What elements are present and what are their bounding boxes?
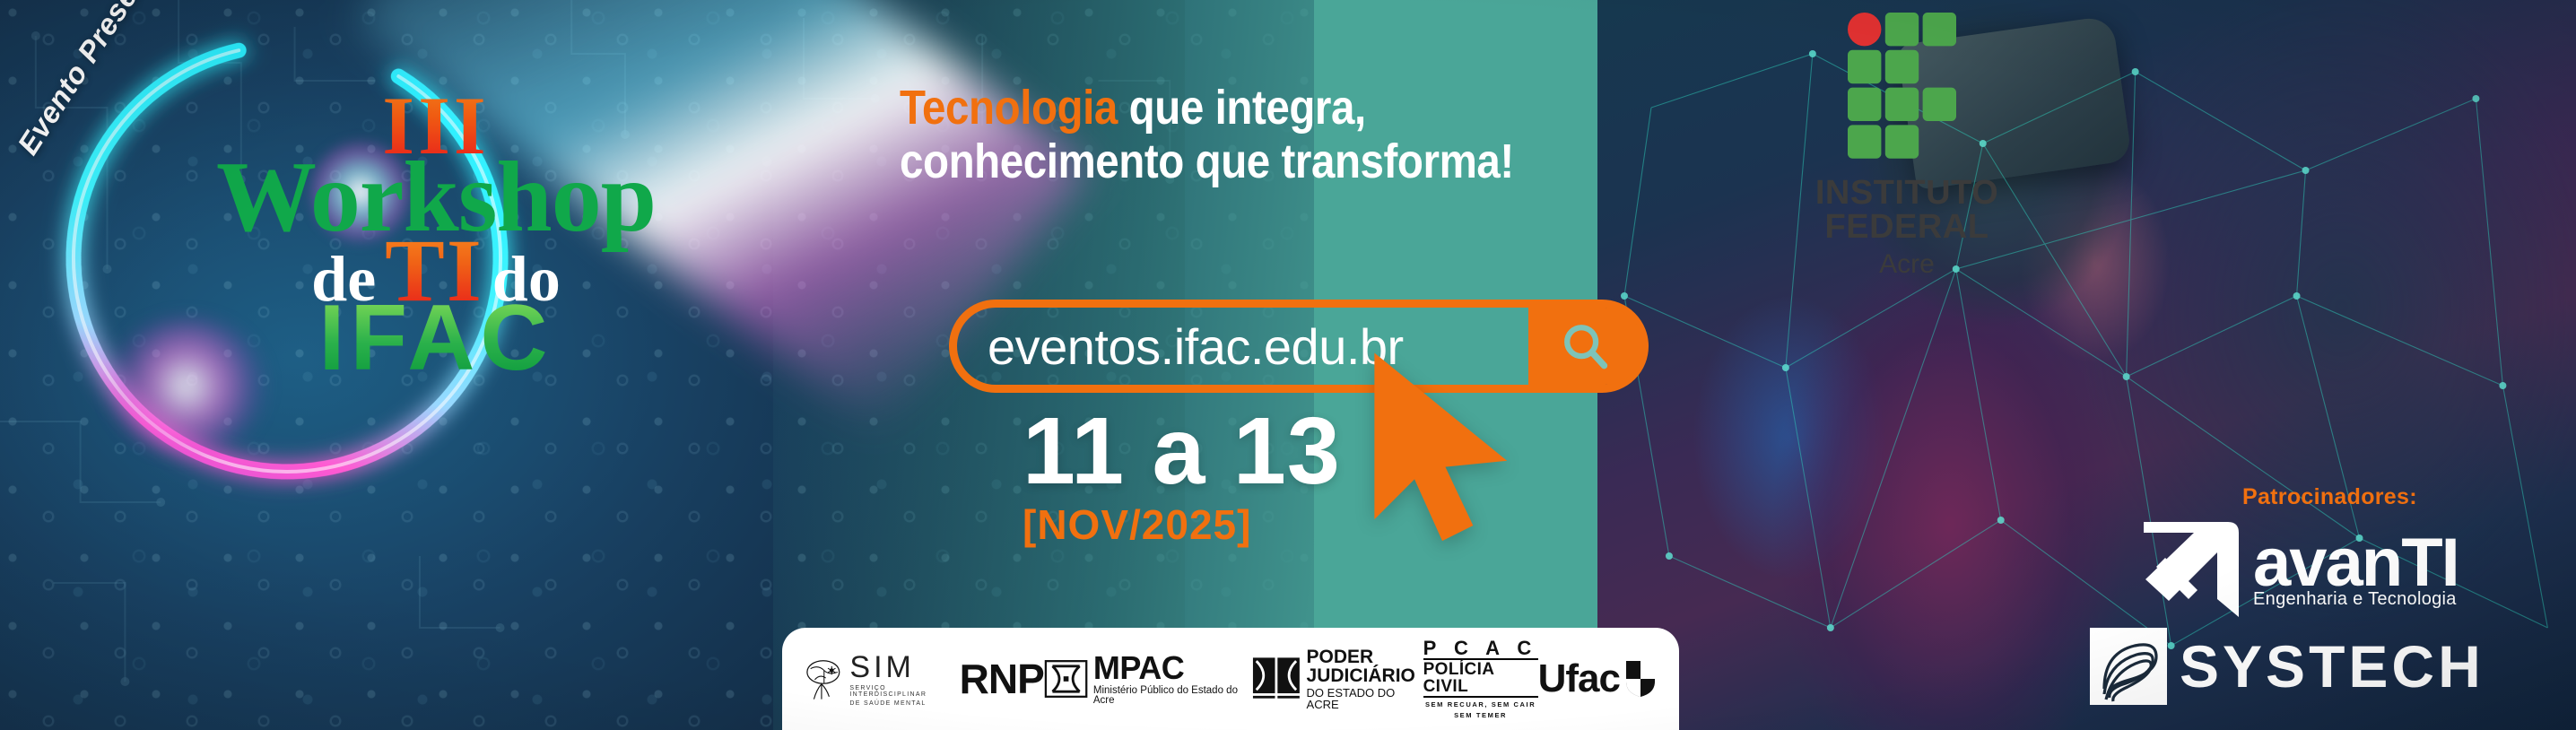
sim-brain-icon xyxy=(805,656,844,702)
partner-sim-sub-1: SERVIÇO INTERDISCIPLINAR xyxy=(849,685,959,698)
logo-institution: IFAC xyxy=(203,296,669,382)
partner-ufac-name: Ufac xyxy=(1538,656,1620,701)
mouse-cursor-icon xyxy=(1363,350,1521,547)
tagline-highlight: Tecnologia xyxy=(900,81,1118,135)
partner-sim[interactable]: SIM SERVIÇO INTERDISCIPLINAR DE SAÚDE ME… xyxy=(805,652,960,707)
if-name-line-1: INSTITUTO xyxy=(1808,176,2006,210)
partner-pcac[interactable]: P C A C POLÍCIA CIVIL SEM RECUAR, SEM CA… xyxy=(1423,639,1538,720)
partner-sim-text: SIM SERVIÇO INTERDISCIPLINAR DE SAÚDE ME… xyxy=(849,652,959,707)
partner-mpac[interactable]: MPAC Ministério Público do Estado do Acr… xyxy=(1044,652,1252,707)
partner-mpac-text: MPAC Ministério Público do Estado do Acr… xyxy=(1093,652,1252,707)
partner-pj-text: PODER JUDICIÁRIO DO ESTADO DO ACRE xyxy=(1307,647,1423,711)
partner-sim-name: SIM xyxy=(849,652,959,682)
avanti-tagline: Engenharia e Tecnologia xyxy=(2253,589,2459,610)
tagline-line-1: Tecnologia que integra, xyxy=(900,81,1689,135)
sponsor-avanti[interactable]: avanTI Engenharia e Tecnologia xyxy=(2138,517,2459,624)
judiciary-scales-icon xyxy=(1252,656,1301,702)
systech-wave-icon xyxy=(2090,628,2167,705)
if-grid-icon xyxy=(1848,13,1966,162)
partner-ufac[interactable]: Ufac xyxy=(1538,656,1656,701)
partner-poder-judiciario[interactable]: PODER JUDICIÁRIO DO ESTADO DO ACRE xyxy=(1252,647,1423,711)
partner-pcac-motto-2: SEM TEMER xyxy=(1423,711,1538,719)
sponsors-label: Patrocinadores: xyxy=(2242,484,2417,510)
event-banner: Evento Presencial! III Workshop de TI do… xyxy=(0,0,2576,730)
partner-mpac-name: MPAC xyxy=(1093,652,1252,684)
event-tagline: Tecnologia que integra, conhecimento que… xyxy=(900,81,1689,189)
partner-logo-strip: SIM SERVIÇO INTERDISCIPLINAR DE SAÚDE ME… xyxy=(782,628,1679,730)
event-logo: III Workshop de TI do IFAC xyxy=(203,88,669,381)
partner-pj-name-1: PODER xyxy=(1307,647,1423,666)
sponsor-systech[interactable]: SYSTECH xyxy=(2090,628,2485,705)
instituto-federal-logo: INSTITUTO FEDERAL Acre xyxy=(1808,13,2006,280)
magnifier-icon xyxy=(1560,320,1612,372)
avanti-name: avanTI xyxy=(2253,531,2459,595)
partner-pcac-initials: P C A C xyxy=(1423,639,1538,658)
website-search-bar[interactable]: eventos.ifac.edu.br xyxy=(949,300,1649,393)
mpac-hourglass-icon xyxy=(1044,657,1088,700)
partner-sim-sub-2: DE SAÚDE MENTAL xyxy=(849,700,959,707)
avanti-text: avanTI Engenharia e Tecnologia xyxy=(2253,531,2459,610)
partner-mpac-sub: Ministério Público do Estado do Acre xyxy=(1093,686,1252,707)
date-range: 11 a 13 xyxy=(1023,404,1341,499)
ufac-shield-icon xyxy=(1625,660,1656,698)
if-name-line-2: FEDERAL xyxy=(1808,210,2006,244)
event-dates: 11 a 13 [NOV/2025] xyxy=(1023,404,1341,549)
tagline-line-1-rest: que integra, xyxy=(1118,81,1366,135)
avanti-arrow-icon xyxy=(2138,517,2244,624)
partner-pcac-text: P C A C POLÍCIA CIVIL SEM RECUAR, SEM CA… xyxy=(1423,639,1538,720)
partner-pj-sub: DO ESTADO DO ACRE xyxy=(1307,687,1423,710)
partner-pcac-name: POLÍCIA CIVIL xyxy=(1423,658,1538,698)
partner-rnp-name: RNP xyxy=(960,655,1044,703)
search-button[interactable] xyxy=(1528,308,1643,385)
partner-pcac-motto-1: SEM RECUAR, SEM CAIR xyxy=(1423,700,1538,708)
tagline-line-2: conhecimento que transforma! xyxy=(900,135,1689,188)
partner-pj-name-2: JUDICIÁRIO xyxy=(1307,666,1423,685)
if-name: INSTITUTO FEDERAL xyxy=(1808,176,2006,244)
date-month-year: [NOV/2025] xyxy=(1023,500,1341,549)
partner-rnp[interactable]: RNP xyxy=(960,655,1044,703)
systech-name: SYSTECH xyxy=(2180,632,2485,700)
if-campus: Acre xyxy=(1808,249,2006,280)
